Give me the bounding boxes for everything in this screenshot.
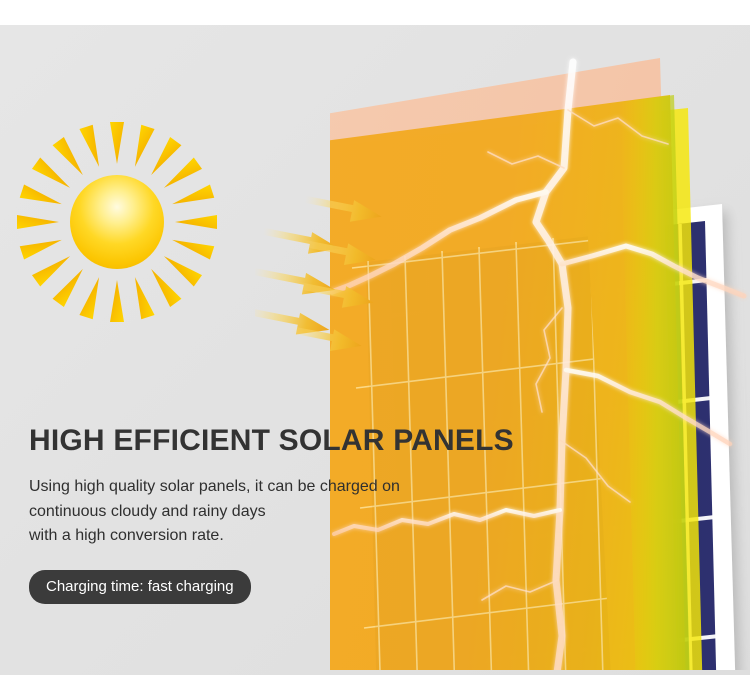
- sun-icon: [17, 122, 217, 322]
- body-line-3: with a high conversion rate.: [29, 524, 509, 549]
- page-title: HIGH EFFICIENT SOLAR PANELS: [29, 424, 509, 458]
- marketing-banner: HIGH EFFICIENT SOLAR PANELS Using high q…: [0, 0, 750, 689]
- copy-block: HIGH EFFICIENT SOLAR PANELS Using high q…: [29, 424, 509, 604]
- body-copy: Using high quality solar panels, it can …: [29, 475, 509, 549]
- charging-time-badge: Charging time: fast charging: [29, 570, 251, 604]
- body-line-1: Using high quality solar panels, it can …: [29, 475, 509, 500]
- body-line-2: continuous cloudy and rainy days: [29, 500, 509, 525]
- sun-disc: [70, 175, 164, 269]
